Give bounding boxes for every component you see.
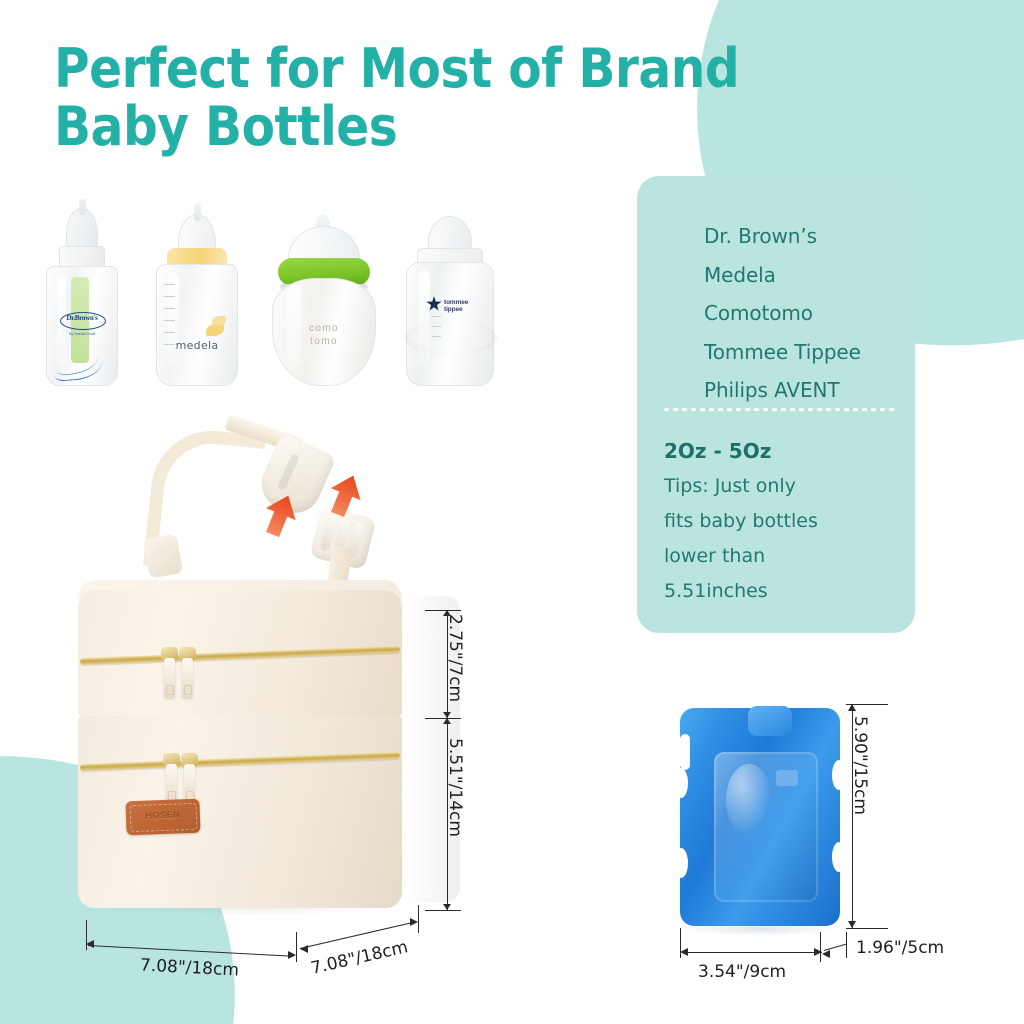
compatibility-panel: Dr. Brown’s Medela Comotomo Tommee Tippe… bbox=[637, 176, 915, 633]
brand-list-item: Medela bbox=[704, 256, 897, 295]
brand-list-item: Dr. Brown’s bbox=[704, 217, 897, 256]
zipper-pull[interactable] bbox=[182, 658, 193, 698]
dimension-width-front: 7.08"/18cm bbox=[140, 955, 240, 980]
dimension-ice-height: 5.90"/15cm bbox=[850, 716, 870, 815]
dimension-bottom-height: 5.51"/14cm bbox=[445, 738, 465, 837]
ice-pack-recessed-panel bbox=[714, 752, 818, 902]
dimension-ice-width: 3.54"/9cm bbox=[698, 962, 786, 982]
bottle-comotomo: comotomo bbox=[272, 216, 376, 386]
bottle-brand-label: Dr.Brown's by Handi-Craft bbox=[52, 312, 112, 352]
infographic-canvas: Perfect for Most of Brand Baby Bottles D… bbox=[0, 0, 1024, 1024]
tips-block: 2Oz - 5Oz Tips: Just only fits baby bott… bbox=[664, 434, 899, 609]
bottle-dr-browns: Dr.Brown's by Handi-Craft bbox=[46, 214, 118, 386]
bottle-nipple bbox=[66, 208, 98, 250]
ice-pack-body bbox=[680, 708, 840, 926]
page-title: Perfect for Most of Brand Baby Bottles bbox=[54, 40, 765, 157]
dimension-top-height: 2.75"/7cm bbox=[445, 614, 465, 702]
dimension-ice-depth: 1.96"/5cm bbox=[856, 938, 944, 958]
strap-anchor bbox=[143, 533, 183, 578]
brand-name: medela bbox=[156, 339, 238, 352]
bottle-tommee-tippee: tommeetippee bbox=[406, 218, 494, 386]
brand-list-item: Tommee Tippee bbox=[704, 333, 897, 372]
brand-sub: by Handi-Craft bbox=[62, 331, 102, 336]
measurement-ticks bbox=[432, 316, 466, 358]
cooler-bag-illustration: HOSEN bbox=[60, 420, 460, 930]
brand-name: comotomo bbox=[272, 323, 376, 348]
ice-pack-illustration: 5.90"/15cm 3.54"/9cm 1.96"/5cm bbox=[670, 700, 970, 1000]
bottle-medela: medela bbox=[156, 216, 238, 386]
zipper-pull[interactable] bbox=[166, 764, 177, 804]
tips-line: fits baby bottles bbox=[664, 504, 899, 539]
brand-list: Dr. Brown’s Medela Comotomo Tommee Tippe… bbox=[664, 217, 897, 410]
ice-pack-highlight bbox=[726, 764, 772, 836]
brand-name: Dr.Brown's bbox=[62, 314, 102, 322]
ice-pack-cap bbox=[748, 706, 792, 736]
brand-patch: HOSEN bbox=[125, 799, 200, 836]
capacity-range: 2Oz - 5Oz bbox=[664, 434, 899, 469]
zipper-pull[interactable] bbox=[164, 658, 175, 698]
tips-line: Tips: Just only bbox=[664, 469, 899, 504]
compatible-bottles-row: Dr.Brown's by Handi-Craft medela bbox=[38, 196, 468, 386]
brand-name-part1: tommee bbox=[444, 299, 468, 306]
brand-name: tommeetippee bbox=[444, 299, 490, 314]
tips-line: 5.51inches bbox=[664, 574, 899, 609]
brand-name-part2: tomo bbox=[310, 336, 338, 347]
brand-name-part1: como bbox=[309, 323, 339, 334]
brand-list-item: Philips AVENT bbox=[704, 371, 897, 410]
ice-pack-emboss-mark bbox=[776, 770, 798, 786]
dotted-divider bbox=[662, 408, 895, 411]
title-line-1: Perfect for Most of Brand bbox=[54, 37, 739, 100]
brand-list-item: Comotomo bbox=[704, 294, 897, 333]
title-line-2: Baby Bottles bbox=[54, 95, 397, 158]
brand-name-part2: tippee bbox=[444, 306, 463, 313]
tips-line: lower than bbox=[664, 539, 899, 574]
